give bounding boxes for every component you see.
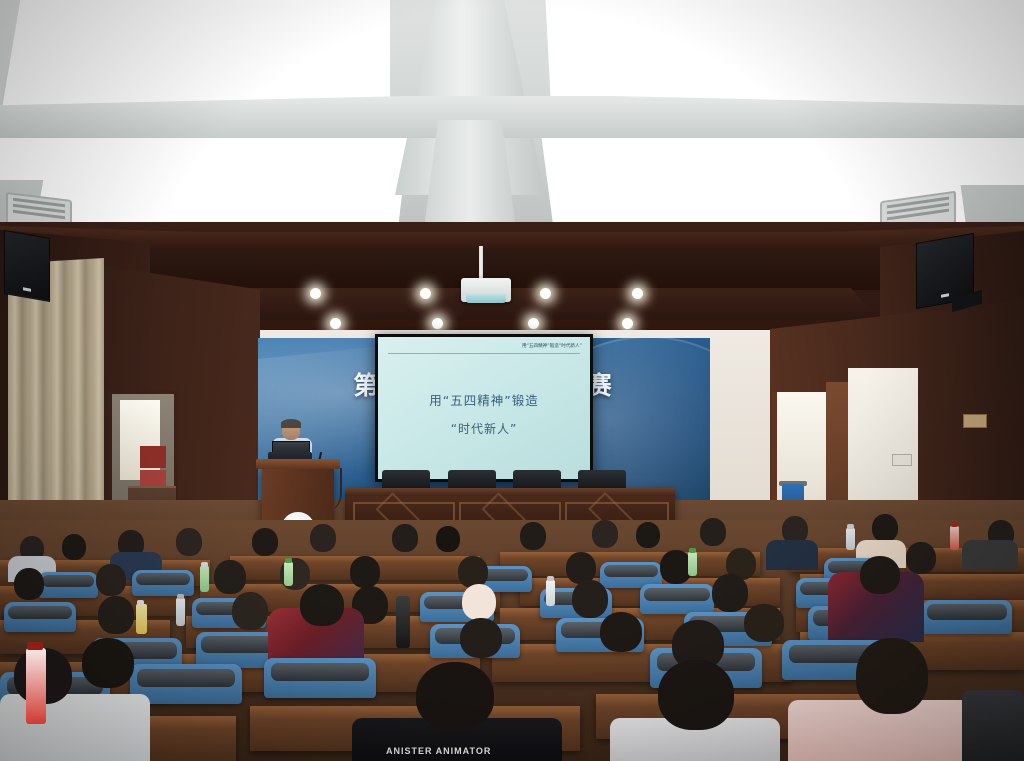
water-bottle-red[interactable]: [26, 648, 46, 724]
audience-chair[interactable]: [640, 584, 714, 614]
shirt-graphic-text: ANISTER ANIMATOR: [386, 746, 491, 756]
audience-head: [392, 524, 418, 552]
audience-head: [744, 604, 784, 642]
audience-head: [310, 524, 336, 552]
audience-head: [462, 584, 496, 620]
thermos-bottle[interactable]: [396, 596, 410, 648]
foreground-person-dark: [962, 690, 1024, 761]
spotlight-icon: [632, 288, 643, 299]
audience-head: [600, 612, 642, 652]
foreground-head: [856, 638, 928, 714]
spotlight-icon: [310, 288, 321, 299]
podium-top: [256, 459, 340, 469]
soffit-face-2: [110, 248, 920, 290]
audience-head: [82, 638, 134, 688]
audience-head: [712, 574, 748, 612]
foreground-person-white-shirt: [0, 694, 150, 761]
presenter-hair: [281, 419, 301, 428]
wall-switch-plate[interactable]: [892, 454, 912, 466]
spotlight-icon: [540, 288, 551, 299]
audience-head: [176, 528, 202, 556]
audience-head: [592, 520, 618, 548]
audience-head: [62, 534, 86, 560]
water-bottle[interactable]: [688, 552, 697, 576]
audience-chair[interactable]: [132, 570, 194, 596]
audience-head: [252, 528, 278, 556]
audience-head: [14, 568, 44, 600]
audience-head: [520, 522, 546, 550]
slide-header-text: 用“五四精神”锻造“时代新人”: [522, 343, 582, 349]
audience-chair[interactable]: [4, 602, 76, 632]
projector-lens: [466, 294, 506, 303]
audience-head: [872, 514, 898, 542]
slide-title-line-1: 用“五四精神”锻造: [378, 390, 590, 409]
audience-head: [860, 556, 900, 594]
audience-torso: [766, 540, 818, 570]
water-bottle[interactable]: [176, 598, 185, 626]
speaker-led: [941, 293, 949, 297]
foreground-head: [416, 662, 494, 730]
audience-head: [906, 542, 936, 574]
red-storage-box: [140, 446, 166, 468]
foreground-head: [658, 660, 734, 730]
spotlight-icon: [528, 318, 539, 329]
water-bottle[interactable]: [846, 528, 855, 550]
audience-chair[interactable]: [38, 572, 98, 598]
audience-chair[interactable]: [264, 658, 376, 698]
audience-chair[interactable]: [922, 600, 1012, 634]
projection-screen: 用“五四精神”锻造“时代新人” 用“五四精神”锻造 “时代新人”: [378, 337, 590, 479]
slide-title-line-2: “时代新人”: [378, 420, 590, 437]
water-bottle[interactable]: [136, 604, 147, 634]
audience-head: [636, 522, 660, 548]
audience-torso: [962, 540, 1018, 570]
audience-head: [458, 556, 488, 588]
audience-head: [232, 592, 268, 630]
water-bottle[interactable]: [284, 562, 293, 586]
spotlight-icon: [622, 318, 633, 329]
audience-head: [96, 564, 126, 596]
audience-head: [572, 580, 608, 618]
audience-head: [214, 560, 246, 594]
lecture-hall-photo: 第五届中 新创业大赛 苏 决赛 用“五四精神”锻造“时代新人” 用“五四精神”锻…: [0, 0, 1024, 761]
spotlight-icon: [330, 318, 341, 329]
red-storage-box: [140, 470, 166, 486]
ceiling-beam-horizontal: [0, 96, 1024, 138]
projector-mount-pole: [479, 246, 483, 280]
water-bottle[interactable]: [950, 526, 959, 550]
wall-speaker-left: [4, 230, 50, 302]
audience-head: [350, 556, 380, 588]
projection-screen-frame: 用“五四精神”锻造“时代新人” 用“五四精神”锻造 “时代新人”: [375, 334, 593, 482]
spotlight-icon: [420, 288, 431, 299]
audience-head: [460, 618, 502, 658]
audience-head: [700, 518, 726, 546]
left-doorway-light: [120, 400, 160, 480]
audience-head: [98, 596, 134, 634]
spotlight-icon: [432, 318, 443, 329]
speaker-led: [23, 287, 31, 291]
wall-sign: [963, 414, 987, 428]
water-bottle[interactable]: [546, 580, 555, 606]
audience-head: [436, 526, 460, 552]
audience-head: [300, 584, 344, 626]
slide-divider: [388, 353, 580, 354]
ceiling: [0, 0, 1024, 250]
water-bottle[interactable]: [200, 566, 209, 592]
